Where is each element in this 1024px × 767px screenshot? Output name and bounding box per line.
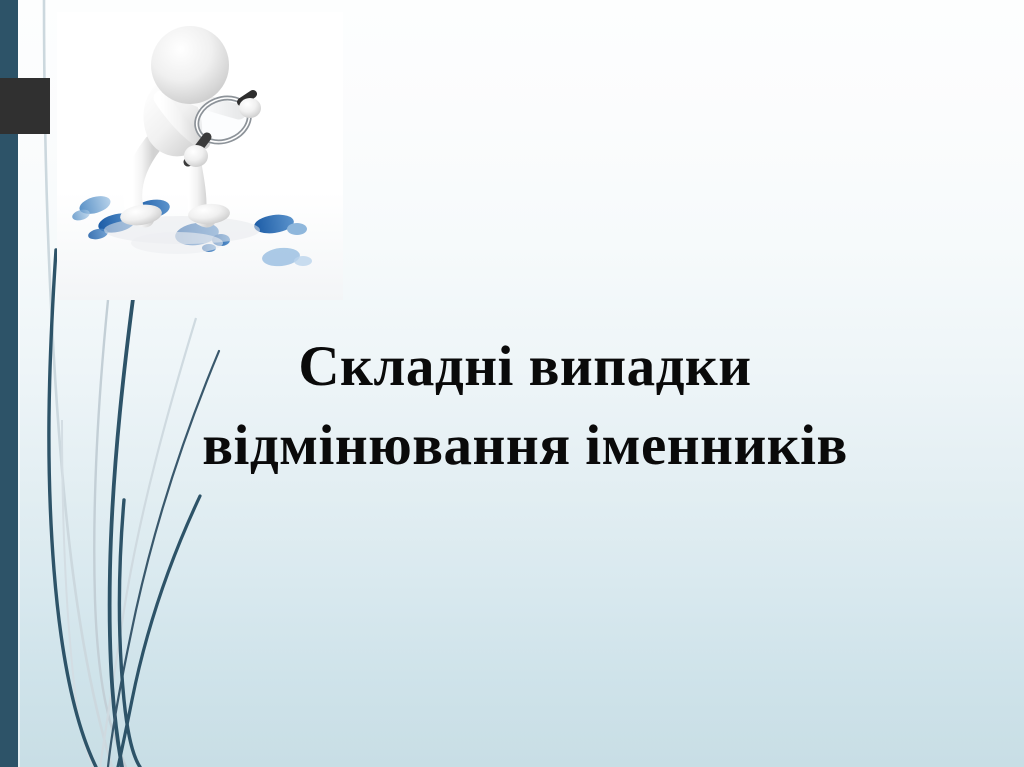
title-illustration — [57, 12, 343, 300]
title-line-2: відмінювання іменників — [60, 407, 990, 486]
title-line-1: Складні випадки — [60, 328, 990, 407]
title-slide: Складні випадки відмінювання іменників — [0, 0, 1024, 767]
page-title: Складні випадки відмінювання іменників — [60, 328, 990, 485]
dark-accent-block — [0, 78, 50, 134]
magnifier-figure-illustration — [57, 12, 343, 300]
